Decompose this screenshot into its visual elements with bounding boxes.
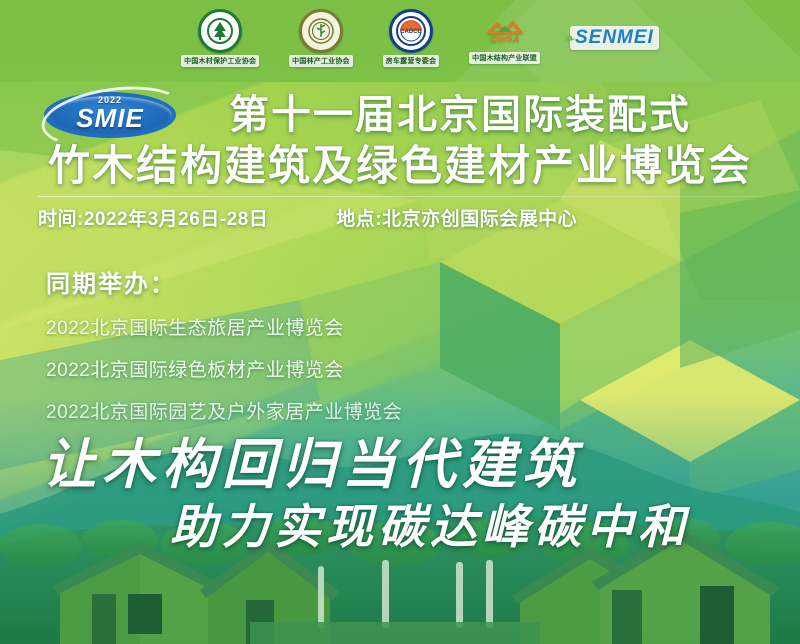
event-meta: 时间:2022年3月26日-28日 地点:北京亦创国际会展中心 bbox=[38, 204, 758, 231]
cadcc-seal-icon: CADCC bbox=[389, 9, 433, 53]
title-divider bbox=[38, 196, 762, 197]
exhibition-poster: 中国木材保护工业协会 中国林产工业协会 CADCC bbox=[0, 0, 800, 644]
bamboo-seal-icon bbox=[299, 9, 343, 53]
page-title-line-2: 竹木结构建筑及绿色建材产业博览会 bbox=[0, 142, 800, 190]
sponsor-logo-row: 中国木材保护工业协会 中国林产工业协会 CADCC bbox=[0, 6, 800, 70]
sponsor-logo-cwsa[interactable]: CWSA 中国木结构产业联盟 bbox=[469, 12, 540, 64]
sponsor-logo-label: 房车露营专委会 bbox=[383, 55, 439, 67]
svg-text:CADCC: CADCC bbox=[400, 29, 422, 35]
sponsor-logo-wordmark: SENMEI bbox=[570, 26, 659, 51]
sponsor-logo-label: 中国林产工业协会 bbox=[289, 55, 353, 67]
svg-text:CWSA: CWSA bbox=[490, 34, 519, 45]
slogan-line-2: 助力实现碳达峰碳中和 bbox=[170, 488, 690, 557]
sponsor-logo-bamboo-association[interactable]: 中国林产工业协会 bbox=[289, 9, 353, 67]
house-roof-icon: CWSA bbox=[486, 12, 524, 50]
list-item: 2022北京国际生态旅居产业博览会 bbox=[46, 313, 566, 340]
page-title-line-1: 第十一届北京国际装配式 bbox=[0, 92, 800, 138]
sponsor-logo-label: 中国木结构产业联盟 bbox=[469, 52, 540, 64]
sponsor-logo-label: 中国木材保护工业协会 bbox=[181, 55, 259, 67]
tree-seal-icon bbox=[198, 9, 242, 53]
sponsor-logo-china-wood-protection[interactable]: 中国木材保护工业协会 bbox=[181, 9, 259, 67]
deck-railing bbox=[250, 622, 540, 644]
concurrent-events-heading: 同期举办： bbox=[46, 264, 566, 299]
event-date: 时间:2022年3月26日-28日 bbox=[38, 204, 268, 231]
sponsor-logo-senmei[interactable]: ❧ SENMEI bbox=[570, 26, 659, 51]
list-item: 2022北京国际绿色板材产业博览会 bbox=[46, 355, 566, 382]
leaf-icon: ❧ bbox=[564, 30, 576, 47]
sponsor-logo-cadcc[interactable]: CADCC 房车露营专委会 bbox=[383, 9, 439, 67]
event-venue: 地点:北京亦创国际会展中心 bbox=[336, 204, 577, 231]
